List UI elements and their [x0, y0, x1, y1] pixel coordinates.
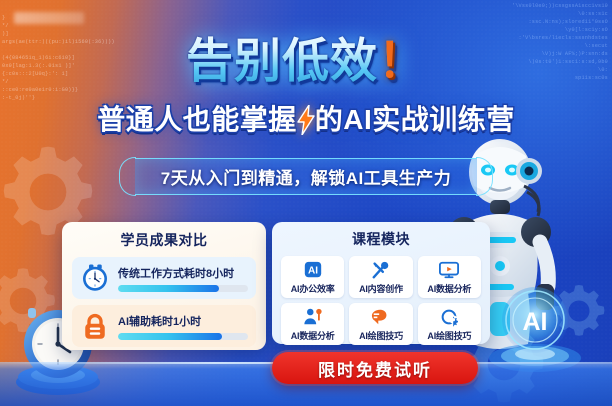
lock-icon [80, 311, 110, 341]
ai-badge-icon: AI [302, 260, 324, 280]
progress-fill [118, 333, 222, 340]
comparison-row-body: AI辅助耗时1小时 [118, 313, 248, 340]
progress-fill [118, 285, 219, 292]
comparison-row-traditional: 传统工作方式耗时8小时 [72, 257, 256, 299]
headline-exclamation: ！ [378, 34, 426, 87]
subtitle-part-1: 普通人也能掌握 [97, 104, 297, 135]
module-grid: AI AI办公效率 AI内容创作 AI数据分析 [281, 256, 481, 345]
student-results-title: 学员成果对比 [72, 230, 256, 250]
course-modules-title: 课程模块 [281, 229, 481, 249]
comparison-row-ai: AI辅助耗时1小时 [72, 305, 256, 347]
ai-hologram-label: AI [523, 308, 548, 336]
cloud-gear-icon [438, 307, 460, 327]
subtitle: 普通人也能掌握的AI实战训练营 [0, 98, 612, 138]
module-tile-data-2[interactable]: AI数据分析 [281, 303, 344, 345]
promo-banner: } */ )] args(ae(ttr:)((pu:)il)1560(:36))… [0, 0, 612, 406]
module-label: AI数据分析 [291, 329, 335, 342]
person-pointer-icon [302, 307, 324, 327]
module-tile-office[interactable]: AI AI办公效率 [281, 256, 344, 298]
comparison-row-body: 传统工作方式耗时8小时 [118, 265, 248, 292]
module-tile-draw-2[interactable]: AI绘图技巧 [418, 303, 481, 345]
module-label: AI绘图技巧 [359, 329, 403, 342]
page-title: 告别低效！ [0, 22, 612, 91]
module-label: AI绘图技巧 [427, 329, 471, 342]
comparison-label-ai: AI辅助耗时1小时 [118, 313, 248, 329]
module-tile-content[interactable]: AI内容创作 [349, 256, 412, 298]
comparison-label-traditional: 传统工作方式耗时8小时 [118, 265, 248, 281]
progress-bar-ai [118, 333, 248, 340]
svg-text:AI: AI [308, 266, 318, 277]
brain-chart-icon [370, 307, 392, 327]
tagline-wrapper: 7天从入门到精通，解锁AI工具生产力 [0, 158, 612, 195]
tagline-pill: 7天从入门到精通，解锁AI工具生产力 [135, 158, 477, 195]
student-results-card: 学员成果对比 传统工作方式耗时8小时 [62, 222, 266, 350]
cta-button[interactable]: 限时免费试听 [272, 352, 478, 384]
course-modules-card: 课程模块 AI AI办公效率 AI内容创作 [272, 222, 490, 344]
headline-text: 告别低效 [186, 34, 378, 87]
module-tile-data-1[interactable]: AI数据分析 [418, 256, 481, 298]
subtitle-part-2: 的AI实战训练营 [315, 104, 515, 135]
module-label: AI办公效率 [291, 282, 335, 295]
module-tile-draw-1[interactable]: AI绘图技巧 [349, 303, 412, 345]
module-label: AI数据分析 [427, 282, 471, 295]
monitor-play-icon [438, 260, 460, 280]
progress-bar-traditional [118, 285, 248, 292]
microphone-pen-icon [370, 260, 392, 280]
clock-icon [80, 263, 110, 293]
module-label: AI内容创作 [359, 282, 403, 295]
lightning-bolt-icon [296, 105, 316, 135]
